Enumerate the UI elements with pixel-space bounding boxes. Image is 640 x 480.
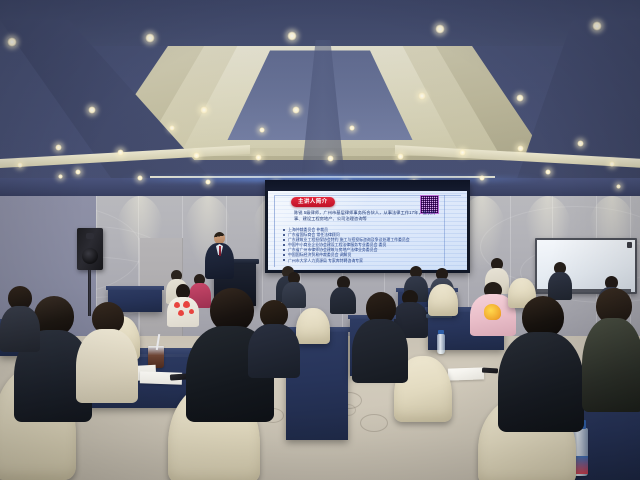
ceiling-downlight [459, 149, 466, 156]
bullet-dot-icon [283, 229, 285, 231]
water-bottle [437, 334, 445, 354]
heart-graphic-icon [178, 310, 184, 316]
bullet-dot-icon [283, 249, 285, 251]
ceiling-downlight [435, 24, 445, 34]
ceiling-downlight [616, 184, 621, 189]
torso [0, 306, 40, 352]
audience-member [548, 262, 572, 298]
presenter-tie [219, 246, 222, 256]
whiteboard-clip-icon [627, 242, 632, 248]
torso [582, 318, 640, 412]
ceiling-downlight [259, 127, 265, 133]
audience-member-foreground [352, 292, 408, 378]
speaker-tweeter-icon [86, 233, 94, 239]
ceiling-downlight [193, 152, 200, 159]
ceiling-downlight [327, 155, 334, 162]
slide-title-badge: 主讲人简介 [291, 197, 335, 207]
heart-graphic-icon [174, 302, 180, 308]
bullet-dot-icon [283, 259, 285, 261]
ceiling-downlight [200, 106, 208, 114]
torso [76, 329, 138, 403]
ceiling-downlight [545, 169, 551, 175]
ceiling-downlight [88, 106, 96, 114]
ceiling-downlight [397, 153, 404, 160]
ceiling-downlight [7, 37, 17, 47]
ceiling-downlight [516, 94, 524, 102]
slide-paragraph: 陈锐 5级律师，广州市基层律师事务所合伙人，从事法律工作17年，擅长刑事、建设工… [294, 210, 444, 222]
ceiling-downlight [55, 144, 62, 151]
conference-room-photo: 主讲人简介 陈锐 5级律师，广州市基层律师事务所合伙人，从事法律工作17年，擅长… [0, 0, 640, 480]
ceiling-downlight [58, 174, 63, 179]
ceiling-downlight [169, 125, 175, 131]
document-paper [448, 367, 484, 380]
audience-member-foreground [0, 286, 40, 348]
ceiling-downlight [145, 33, 155, 43]
ceiling-beam-top [0, 0, 640, 46]
slide-bullet-list: 上海仲裁委员会 仲裁员 广东省国际商会 常任法律顾问 广东建筑业工程担保协会特约… [283, 227, 448, 263]
audience-member-foreground [582, 288, 640, 408]
chair [428, 284, 458, 316]
torso [352, 319, 408, 383]
speaker-woofer-icon [82, 248, 98, 264]
smartphone [482, 368, 498, 374]
ceiling-downlight [577, 140, 584, 147]
table-surface [106, 286, 164, 290]
ceiling-downlight [205, 179, 211, 185]
carpet-motif [360, 414, 388, 432]
ceiling-downlight [609, 161, 615, 167]
ceiling-downlight [292, 106, 300, 114]
bullet-dot-icon [283, 244, 285, 246]
bullet-dot-icon [283, 234, 285, 236]
coffered-ceiling [0, 0, 640, 196]
ceiling-downlight [75, 169, 81, 175]
ceiling-downlight [117, 149, 124, 156]
ceiling-downlight [418, 92, 426, 100]
ceiling-downlight [287, 31, 297, 41]
ceiling-downlight [349, 125, 355, 131]
ceiling-downlight [17, 162, 23, 168]
ceiling-downlight [479, 175, 485, 181]
ceiling-downlight [137, 175, 143, 181]
bullet-dot-icon [283, 239, 285, 241]
list-item: 广州市大学人力资源局 专家库特聘咨询专家 [283, 258, 448, 263]
ceiling-downlight [517, 145, 524, 152]
ceiling-downlight [255, 154, 262, 161]
chair [296, 308, 330, 344]
audience-member-foreground [498, 296, 584, 426]
bottle-cap [438, 330, 444, 334]
bullet-dot-icon [283, 254, 285, 256]
torso [248, 324, 300, 378]
audience-member-foreground [248, 300, 300, 374]
screen-top-bezel [265, 180, 470, 191]
torso [498, 332, 584, 432]
presentation-slide: 主讲人简介 陈锐 5级律师，广州市基层律师事务所合伙人，从事法律工作17年，擅长… [268, 191, 467, 270]
ceiling-downlight [592, 21, 602, 31]
pa-speaker [77, 228, 103, 270]
audience-member-foreground [76, 302, 138, 398]
